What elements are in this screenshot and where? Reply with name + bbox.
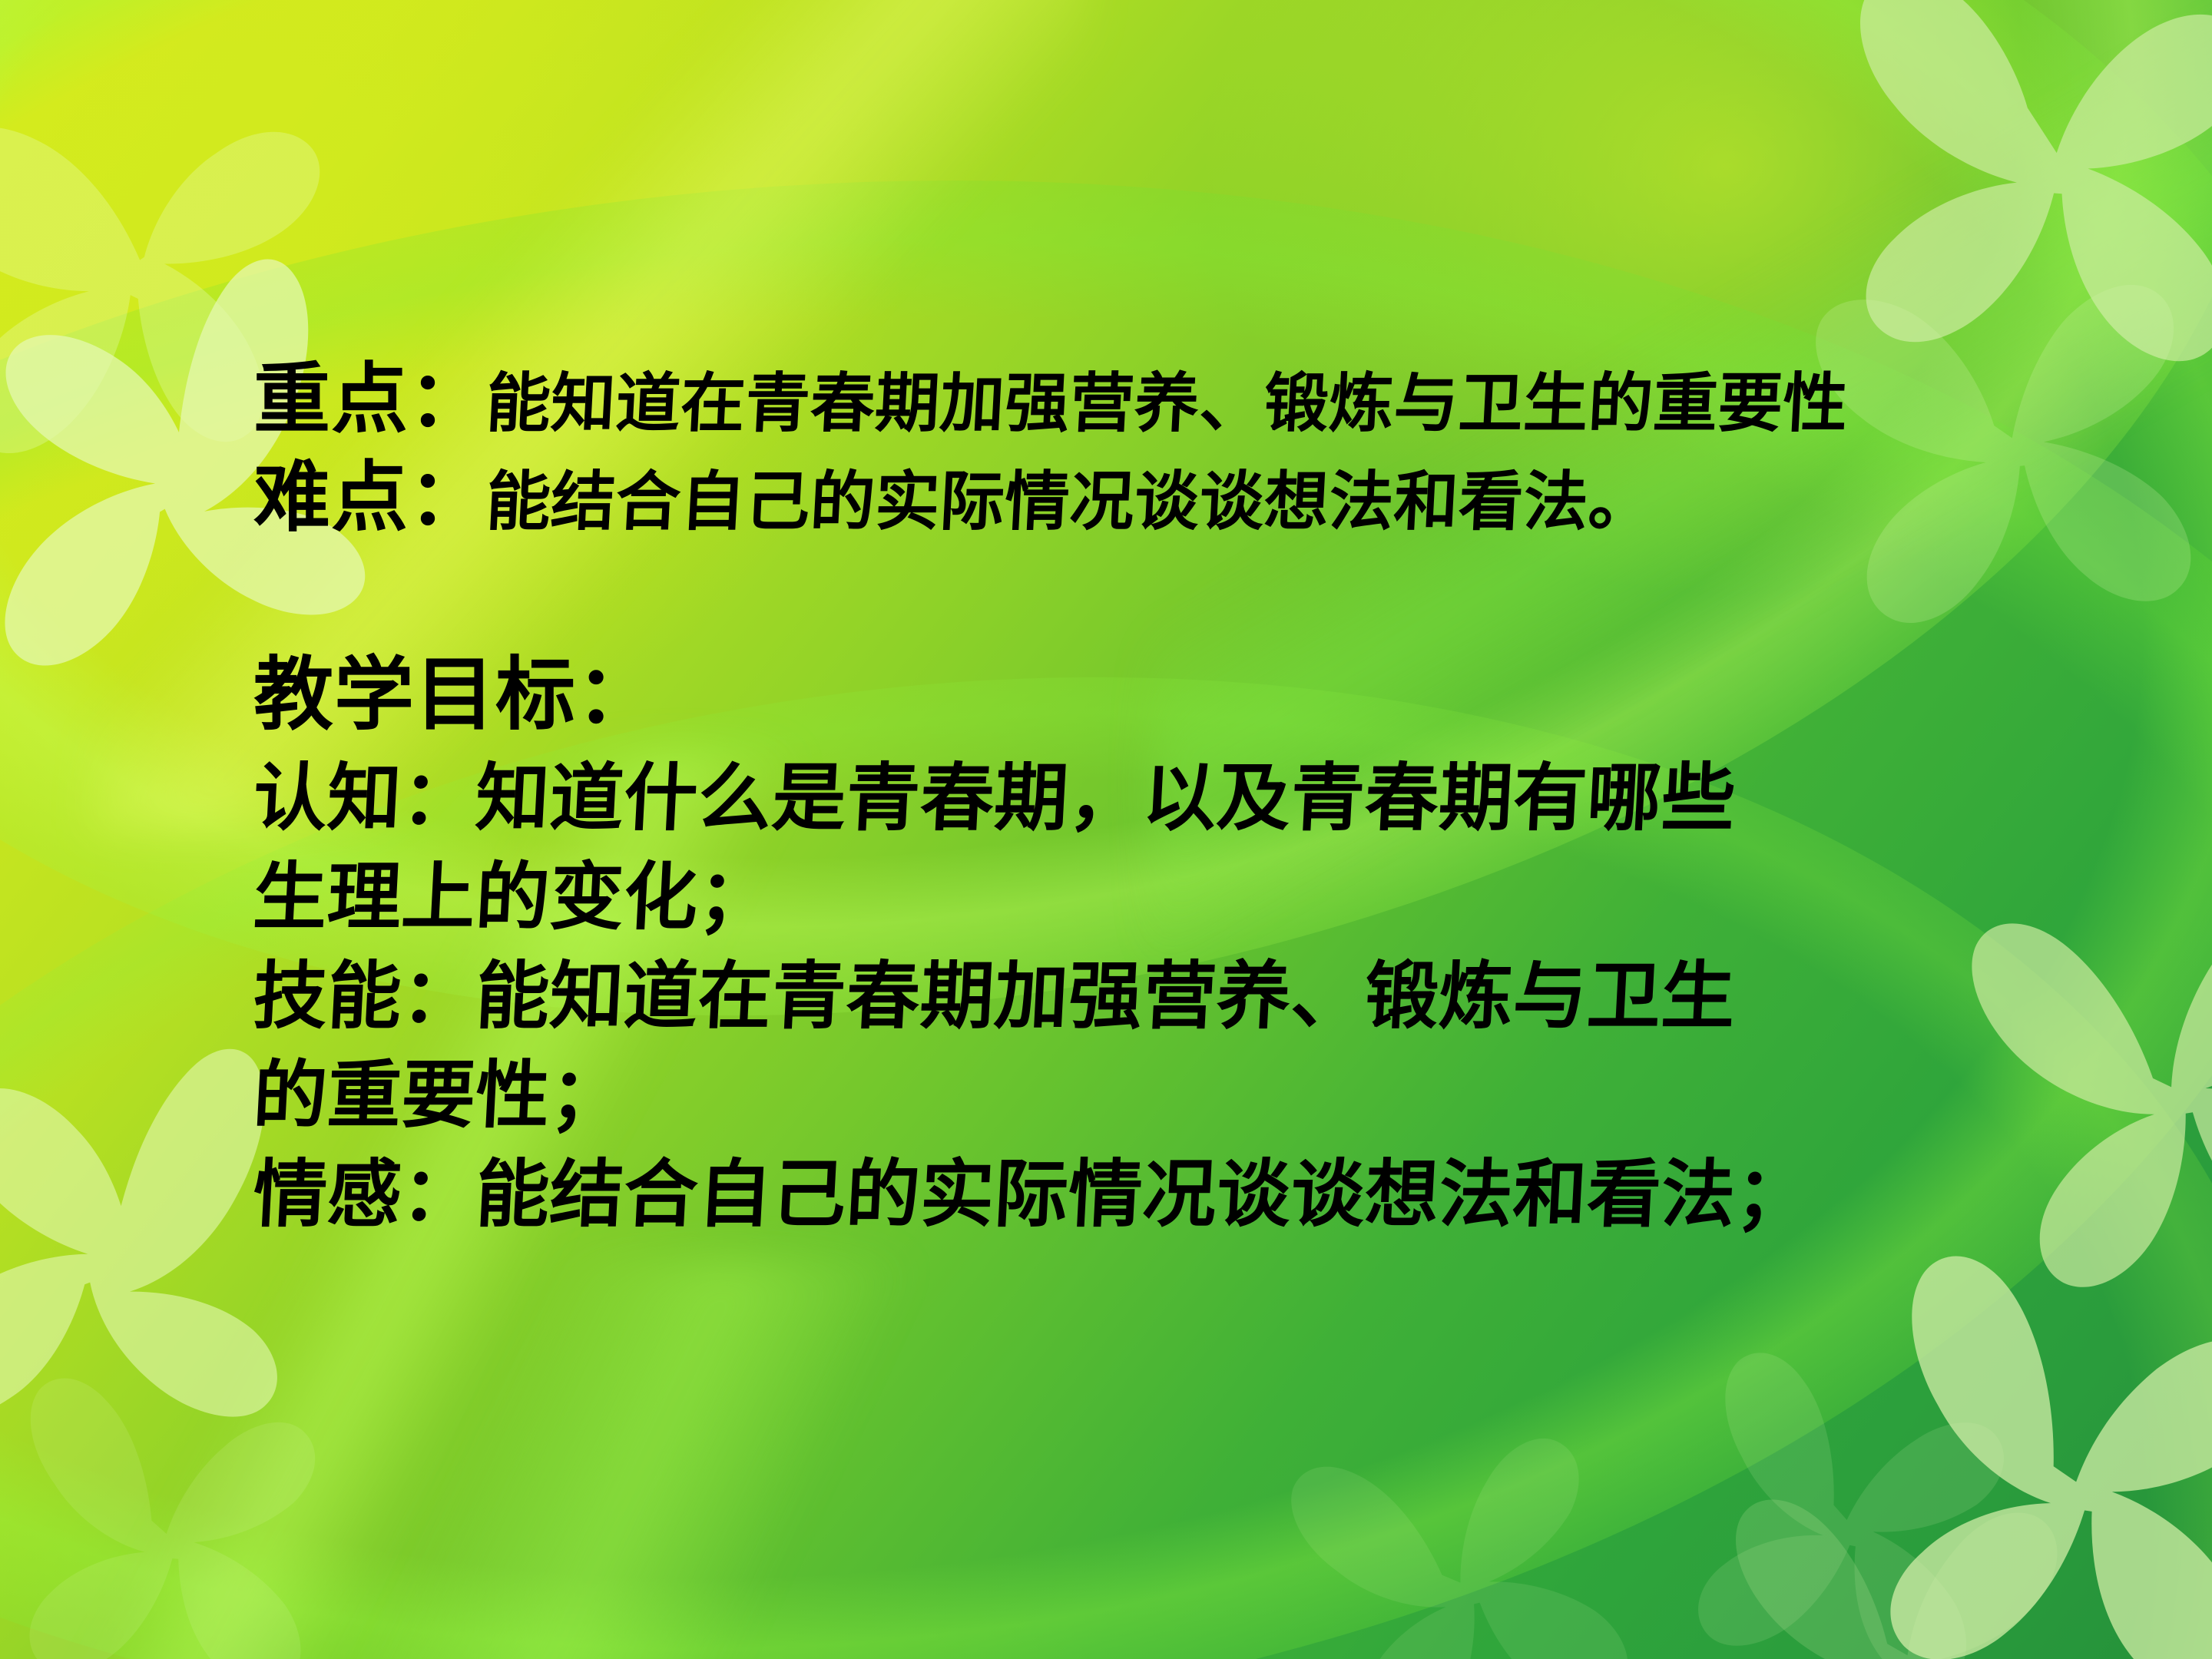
objective-line-cognitive: 认知：知道什么是青春期，以及青春期有哪些 bbox=[253, 759, 2020, 858]
objective-text: 认知：知道什么是青春期，以及青春期有哪些 bbox=[251, 761, 1737, 835]
objective-line-cognitive-cont: 生理上的变化； bbox=[253, 858, 2020, 957]
difficulty-point-line: 难点：能结合自己的实际情况谈谈想法和看法。 bbox=[253, 459, 2020, 558]
difficulty-point-text: 能结合自己的实际情况谈谈想法和看法。 bbox=[485, 469, 1655, 534]
butterfly-icon bbox=[1781, 1190, 2212, 1659]
section-spacer bbox=[253, 558, 2020, 654]
objective-line-skill-cont: 的重要性； bbox=[253, 1056, 2020, 1155]
key-point-label: 重点： bbox=[253, 354, 486, 444]
key-point-line: 重点：能知道在青春期加强营养、锻炼与卫生的重要性 bbox=[253, 361, 2020, 459]
slide-text-body: 重点：能知道在青春期加强营养、锻炼与卫生的重要性 难点：能结合自己的实际情况谈谈… bbox=[253, 361, 2020, 1254]
objective-line-emotion: 情感：能结合自己的实际情况谈谈想法和看法； bbox=[253, 1155, 2020, 1254]
butterfly-icon bbox=[1660, 1414, 2119, 1659]
background-light-streak-bottom bbox=[0, 1260, 1229, 1659]
objective-text: 生理上的变化； bbox=[251, 860, 773, 934]
objective-text: 情感：能结合自己的实际情况谈谈想法和看法； bbox=[251, 1157, 1811, 1231]
objective-text: 技能：能知道在青春期加强营养、锻炼与卫生 bbox=[251, 959, 1737, 1033]
butterfly-icon bbox=[1202, 1333, 1686, 1659]
presentation-slide: 重点：能知道在青春期加强营养、锻炼与卫生的重要性 难点：能结合自己的实际情况谈谈… bbox=[0, 0, 2212, 1659]
teaching-objectives-heading: 教学目标： bbox=[253, 654, 2020, 759]
butterfly-icon bbox=[0, 1304, 370, 1659]
teaching-objectives-heading-text: 教学目标： bbox=[253, 647, 657, 741]
objective-text: 的重要性； bbox=[251, 1058, 625, 1132]
key-point-text: 能知道在青春期加强营养、锻炼与卫生的重要性 bbox=[485, 371, 1849, 435]
objective-line-skill: 技能：能知道在青春期加强营养、锻炼与卫生 bbox=[253, 957, 2020, 1056]
difficulty-point-label: 难点： bbox=[253, 452, 486, 542]
butterfly-icon bbox=[1599, 1269, 2073, 1659]
